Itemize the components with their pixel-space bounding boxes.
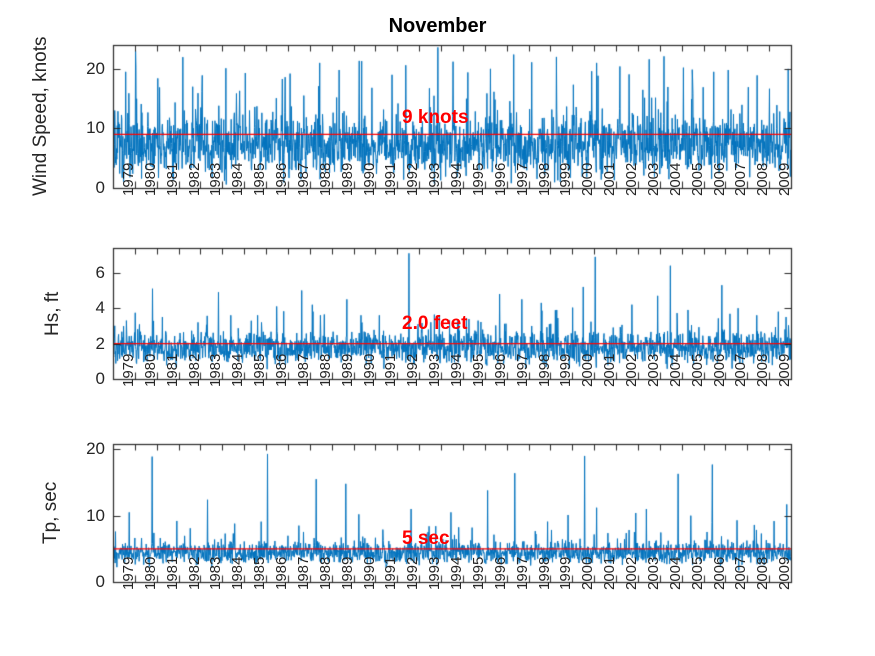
x-tick-label-2006: 2006 <box>711 557 728 590</box>
threshold-annotation-wave-period: 5 sec <box>402 528 450 550</box>
x-tick-label-1989: 1989 <box>339 354 356 387</box>
x-tick-label-2002: 2002 <box>623 163 640 196</box>
x-tick-label-2008: 2008 <box>754 557 771 590</box>
x-tick-label-1980: 1980 <box>142 163 159 196</box>
threshold-annotation-wave-height: 2.0 feet <box>402 313 467 335</box>
x-tick-label-1984: 1984 <box>229 354 246 387</box>
x-tick-label-1997: 1997 <box>514 354 531 387</box>
x-tick-label-2002: 2002 <box>623 354 640 387</box>
threshold-annotation-wind-speed: 9 knots <box>402 107 469 129</box>
y-tick-label: 10 <box>55 118 105 138</box>
x-tick-label-1986: 1986 <box>273 163 290 196</box>
x-tick-label-1991: 1991 <box>382 354 399 387</box>
x-tick-label-1979: 1979 <box>120 163 137 196</box>
x-tick-label-1993: 1993 <box>426 354 443 387</box>
x-tick-label-2001: 2001 <box>601 163 618 196</box>
y-tick-label: 0 <box>55 369 105 389</box>
x-tick-label-2003: 2003 <box>645 354 662 387</box>
x-tick-label-1979: 1979 <box>120 354 137 387</box>
x-tick-label-1983: 1983 <box>207 557 224 590</box>
x-tick-label-1990: 1990 <box>361 354 378 387</box>
x-tick-label-2009: 2009 <box>776 163 793 196</box>
x-tick-label-1985: 1985 <box>251 557 268 590</box>
x-tick-label-1994: 1994 <box>448 354 465 387</box>
x-tick-label-1996: 1996 <box>492 557 509 590</box>
x-tick-label-1991: 1991 <box>382 163 399 196</box>
x-tick-label-1990: 1990 <box>361 163 378 196</box>
x-tick-label-1999: 1999 <box>557 557 574 590</box>
x-tick-label-1981: 1981 <box>164 557 181 590</box>
x-tick-label-1988: 1988 <box>317 557 334 590</box>
x-tick-label-1998: 1998 <box>536 354 553 387</box>
x-tick-label-1989: 1989 <box>339 557 356 590</box>
x-tick-label-1996: 1996 <box>492 163 509 196</box>
x-tick-label-1987: 1987 <box>295 557 312 590</box>
x-tick-label-1982: 1982 <box>186 163 203 196</box>
y-axis-label-wind-speed: Wind Speed, knots <box>30 37 52 196</box>
x-tick-label-1999: 1999 <box>557 354 574 387</box>
x-tick-label-1993: 1993 <box>426 557 443 590</box>
x-tick-label-2001: 2001 <box>601 354 618 387</box>
x-tick-label-1998: 1998 <box>536 557 553 590</box>
x-tick-label-1984: 1984 <box>229 557 246 590</box>
x-tick-label-1983: 1983 <box>207 163 224 196</box>
x-tick-label-2005: 2005 <box>689 354 706 387</box>
x-tick-label-1987: 1987 <box>295 163 312 196</box>
x-tick-label-2000: 2000 <box>579 557 596 590</box>
x-tick-label-2004: 2004 <box>667 354 684 387</box>
x-tick-label-1999: 1999 <box>557 163 574 196</box>
x-tick-label-1992: 1992 <box>404 163 421 196</box>
x-tick-label-1995: 1995 <box>470 354 487 387</box>
x-tick-label-1998: 1998 <box>536 163 553 196</box>
x-tick-label-2004: 2004 <box>667 163 684 196</box>
x-tick-label-1995: 1995 <box>470 557 487 590</box>
x-tick-label-1994: 1994 <box>448 557 465 590</box>
x-tick-label-1992: 1992 <box>404 557 421 590</box>
x-tick-label-2003: 2003 <box>645 163 662 196</box>
x-tick-label-2004: 2004 <box>667 557 684 590</box>
x-tick-label-1987: 1987 <box>295 354 312 387</box>
x-tick-label-2009: 2009 <box>776 557 793 590</box>
x-tick-label-1996: 1996 <box>492 354 509 387</box>
y-tick-label: 2 <box>55 334 105 354</box>
x-tick-label-2005: 2005 <box>689 163 706 196</box>
x-tick-label-1982: 1982 <box>186 354 203 387</box>
x-tick-label-1980: 1980 <box>142 557 159 590</box>
x-tick-label-1980: 1980 <box>142 354 159 387</box>
x-tick-label-2008: 2008 <box>754 354 771 387</box>
page-title: November <box>0 15 875 38</box>
chart-page: November 0102019791980198119821983198419… <box>0 0 875 656</box>
x-tick-label-1990: 1990 <box>361 557 378 590</box>
x-tick-label-2000: 2000 <box>579 354 596 387</box>
y-tick-label: 6 <box>55 263 105 283</box>
y-axis-label-wave-period: Tp, sec <box>40 482 62 544</box>
x-tick-label-1988: 1988 <box>317 354 334 387</box>
y-tick-label: 20 <box>55 439 105 459</box>
x-tick-label-2009: 2009 <box>776 354 793 387</box>
x-tick-label-1979: 1979 <box>120 557 137 590</box>
x-tick-label-2001: 2001 <box>601 557 618 590</box>
y-tick-label: 0 <box>55 572 105 592</box>
x-tick-label-1981: 1981 <box>164 354 181 387</box>
x-tick-label-1985: 1985 <box>251 354 268 387</box>
x-tick-label-2005: 2005 <box>689 557 706 590</box>
x-tick-label-2000: 2000 <box>579 163 596 196</box>
x-tick-label-2006: 2006 <box>711 354 728 387</box>
x-tick-label-1982: 1982 <box>186 557 203 590</box>
x-tick-label-1984: 1984 <box>229 163 246 196</box>
x-tick-label-1983: 1983 <box>207 354 224 387</box>
y-tick-label: 10 <box>55 506 105 526</box>
x-tick-label-2007: 2007 <box>732 557 749 590</box>
x-tick-label-2008: 2008 <box>754 163 771 196</box>
x-tick-label-1986: 1986 <box>273 557 290 590</box>
x-tick-label-1992: 1992 <box>404 354 421 387</box>
x-tick-label-1985: 1985 <box>251 163 268 196</box>
y-axis-label-wave-height: Hs, ft <box>42 291 64 335</box>
x-tick-label-1989: 1989 <box>339 163 356 196</box>
y-tick-label: 20 <box>55 59 105 79</box>
x-tick-label-1981: 1981 <box>164 163 181 196</box>
x-tick-label-1997: 1997 <box>514 557 531 590</box>
x-tick-label-2002: 2002 <box>623 557 640 590</box>
x-tick-label-1991: 1991 <box>382 557 399 590</box>
x-tick-label-1997: 1997 <box>514 163 531 196</box>
x-tick-label-1995: 1995 <box>470 163 487 196</box>
x-tick-label-2003: 2003 <box>645 557 662 590</box>
y-tick-label: 0 <box>55 178 105 198</box>
x-tick-label-1994: 1994 <box>448 163 465 196</box>
x-tick-label-1986: 1986 <box>273 354 290 387</box>
x-tick-label-2007: 2007 <box>732 163 749 196</box>
x-tick-label-1988: 1988 <box>317 163 334 196</box>
x-tick-label-2006: 2006 <box>711 163 728 196</box>
x-tick-label-2007: 2007 <box>732 354 749 387</box>
x-tick-label-1993: 1993 <box>426 163 443 196</box>
